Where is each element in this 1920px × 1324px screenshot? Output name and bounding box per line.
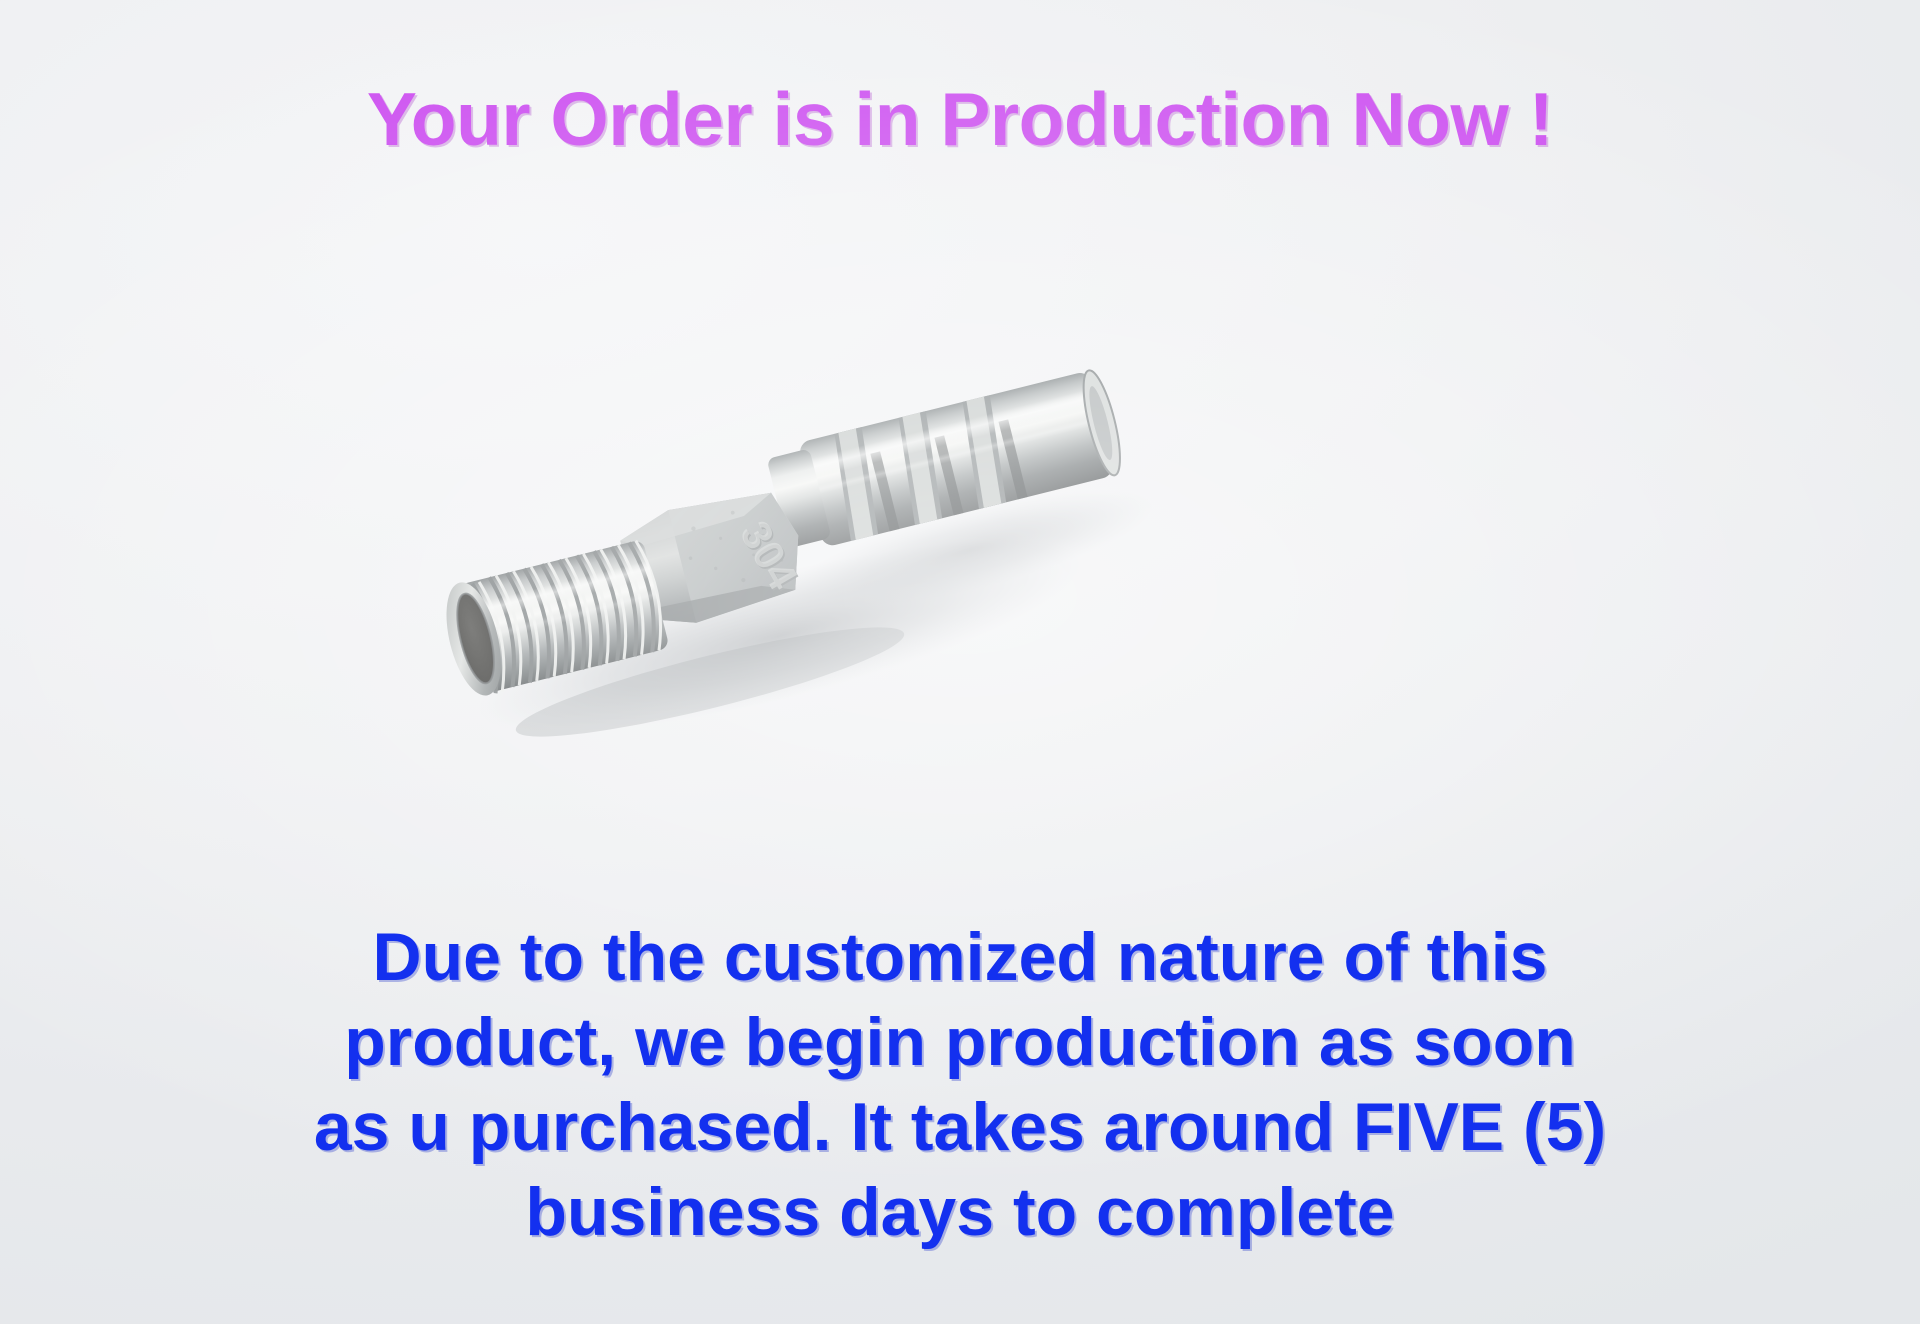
body-line-1: Due to the customized nature of this <box>70 915 1850 1000</box>
poster-canvas: Your Order is in Production Now ! <box>0 0 1920 1324</box>
body-line-3: as u purchased. It takes around FIVE (5) <box>70 1085 1850 1170</box>
page-title: Your Order is in Production Now ! <box>0 76 1920 162</box>
body-line-2: product, we begin production as soon <box>70 1000 1850 1085</box>
body-copy: Due to the customized nature of this pro… <box>70 915 1850 1255</box>
product-photo: 304 304 <box>380 250 1280 750</box>
body-line-4: business days to complete <box>70 1170 1850 1255</box>
